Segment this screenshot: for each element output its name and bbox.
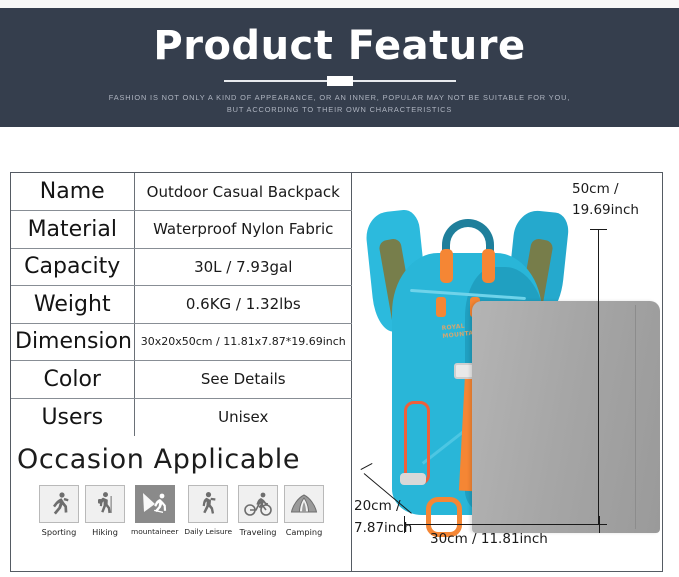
depth-dimension-label: 20cm / 7.87inch bbox=[354, 496, 412, 539]
occasion-item-label: Traveling bbox=[240, 527, 277, 537]
walking-person-icon bbox=[188, 485, 228, 523]
occasion-title: Occasion Applicable bbox=[17, 444, 351, 475]
top-strip bbox=[0, 0, 679, 8]
width-dimension-label: 30cm / 11.81inch bbox=[430, 531, 548, 547]
spec-value: 30L / 7.93gal bbox=[134, 248, 352, 286]
occasion-item-hiking: Hiking bbox=[85, 485, 125, 537]
spec-label: Users bbox=[11, 398, 134, 436]
zipper-pull-left bbox=[436, 297, 446, 317]
tent-icon bbox=[284, 485, 324, 523]
laptop-image bbox=[472, 301, 660, 533]
photo-stage: ROYALMOUNTAIN 50cm / 19.69inch 30cm bbox=[352, 173, 662, 571]
occasion-section: Occasion Applicable Sporting bbox=[11, 436, 351, 537]
divider-knob bbox=[327, 76, 353, 86]
table-row: Dimension 30x20x50cm / 11.81x7.87*19.69i… bbox=[11, 323, 352, 361]
occasion-item-sporting: Sporting bbox=[39, 485, 79, 537]
spec-label: Dimension bbox=[11, 323, 134, 361]
depth-dimension-label-line1: 20cm / bbox=[354, 496, 412, 518]
spec-value: Outdoor Casual Backpack bbox=[134, 173, 352, 211]
spec-value: Waterproof Nylon Fabric bbox=[134, 211, 352, 249]
strap-buckle-left bbox=[440, 249, 453, 283]
banner-subtitle: FASHION IS NOT ONLY A KIND OF APPEARANCE… bbox=[0, 92, 679, 116]
occasion-item-label: mountaineer bbox=[131, 527, 178, 536]
banner-subtitle-line1: FASHION IS NOT ONLY A KIND OF APPEARANCE… bbox=[0, 92, 679, 104]
occasion-item-label: Camping bbox=[286, 527, 323, 537]
hiker-person-icon bbox=[85, 485, 125, 523]
occasion-item-camping: Camping bbox=[284, 485, 324, 537]
specs-panel: Name Outdoor Casual Backpack Material Wa… bbox=[11, 173, 352, 571]
spec-value: 0.6KG / 1.32lbs bbox=[134, 286, 352, 324]
cyclist-icon bbox=[238, 485, 278, 523]
title-divider-ornament bbox=[224, 76, 456, 86]
table-row: Capacity 30L / 7.93gal bbox=[11, 248, 352, 286]
spec-label: Material bbox=[11, 211, 134, 249]
spec-value: See Details bbox=[134, 361, 352, 399]
table-row: Weight 0.6KG / 1.32lbs bbox=[11, 286, 352, 324]
width-dimension-line bbox=[404, 524, 600, 525]
occasion-item-traveling: Traveling bbox=[238, 485, 278, 537]
occasion-item-daily-leisure: Daily Leisure bbox=[184, 485, 232, 537]
spec-label: Weight bbox=[11, 286, 134, 324]
content-panel: Name Outdoor Casual Backpack Material Wa… bbox=[10, 172, 663, 572]
depth-dimension-label-line2: 7.87inch bbox=[354, 518, 412, 540]
table-row: Color See Details bbox=[11, 361, 352, 399]
cord-clip bbox=[400, 473, 426, 485]
laptop-seam bbox=[635, 305, 636, 529]
spec-value: 30x20x50cm / 11.81x7.87*19.69inch bbox=[134, 323, 352, 361]
table-row: Users Unisex bbox=[11, 398, 352, 436]
occasion-item-mountaineer: mountaineer bbox=[131, 485, 178, 537]
table-row: Name Outdoor Casual Backpack bbox=[11, 173, 352, 211]
strap-buckle-right bbox=[482, 249, 495, 283]
occasion-icon-row: Sporting Hiking bbox=[17, 485, 351, 537]
table-row: Material Waterproof Nylon Fabric bbox=[11, 211, 352, 249]
spec-label: Name bbox=[11, 173, 134, 211]
climber-person-icon bbox=[135, 485, 175, 523]
height-dimension-label-line1: 50cm / bbox=[572, 179, 639, 200]
width-dimension-cap-right bbox=[599, 516, 600, 533]
height-dimension-line bbox=[598, 229, 599, 524]
height-dimension-label-line2: 19.69inch bbox=[572, 200, 639, 221]
occasion-item-label: Hiking bbox=[92, 527, 118, 537]
specification-table: Name Outdoor Casual Backpack Material Wa… bbox=[11, 173, 352, 436]
running-person-icon bbox=[39, 485, 79, 523]
page-title: Product Feature bbox=[0, 8, 679, 68]
occasion-item-label: Sporting bbox=[42, 527, 77, 537]
spec-label: Capacity bbox=[11, 248, 134, 286]
banner-subtitle-line2: BUT ACCORDING TO THEIR OWN CHARACTERISTI… bbox=[0, 104, 679, 116]
header-banner: Product Feature FASHION IS NOT ONLY A KI… bbox=[0, 8, 679, 127]
occasion-item-label: Daily Leisure bbox=[184, 527, 232, 536]
height-dimension-label: 50cm / 19.69inch bbox=[572, 179, 639, 221]
product-photo-panel: ROYALMOUNTAIN 50cm / 19.69inch 30cm bbox=[352, 173, 662, 571]
spec-value: Unisex bbox=[134, 398, 352, 436]
spec-label: Color bbox=[11, 361, 134, 399]
